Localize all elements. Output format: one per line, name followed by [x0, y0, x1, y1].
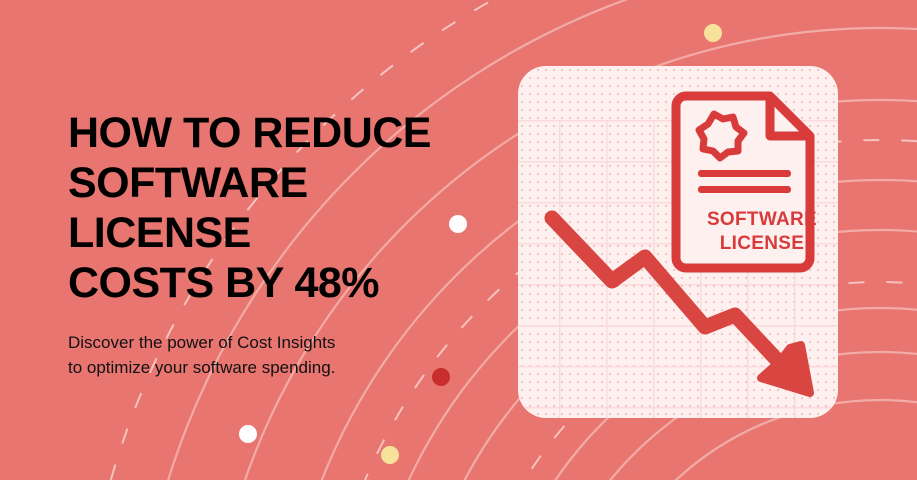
page-subtitle: Discover the power of Cost Insights to o… [68, 330, 428, 380]
subheadline-line-1: Discover the power of Cost Insights [68, 330, 428, 355]
headline-line-1: HOW TO REDUCE [68, 108, 498, 158]
dot-red-lower [432, 368, 450, 386]
headline-line-4: COSTS BY 48% [68, 258, 498, 308]
headline-line-3: LICENSE [68, 208, 498, 258]
dot-white-bottom [239, 425, 257, 443]
promo-banner: HOW TO REDUCE SOFTWARE LICENSE COSTS BY … [0, 0, 917, 480]
illustration-card: SOFTWARE LICENSE [518, 66, 838, 418]
subheadline-line-2: to optimize your software spending. [68, 355, 428, 380]
dot-yellow-top [704, 24, 722, 42]
dot-yellow-bottom [381, 446, 399, 464]
headline-line-2: SOFTWARE [68, 158, 498, 208]
doc-rule-line-1 [698, 170, 791, 177]
doc-rule-line-2 [698, 186, 791, 193]
page-title: HOW TO REDUCE SOFTWARE LICENSE COSTS BY … [68, 108, 498, 308]
doc-title-line-2: LICENSE [682, 232, 838, 256]
doc-title-line-1: SOFTWARE [682, 208, 838, 232]
